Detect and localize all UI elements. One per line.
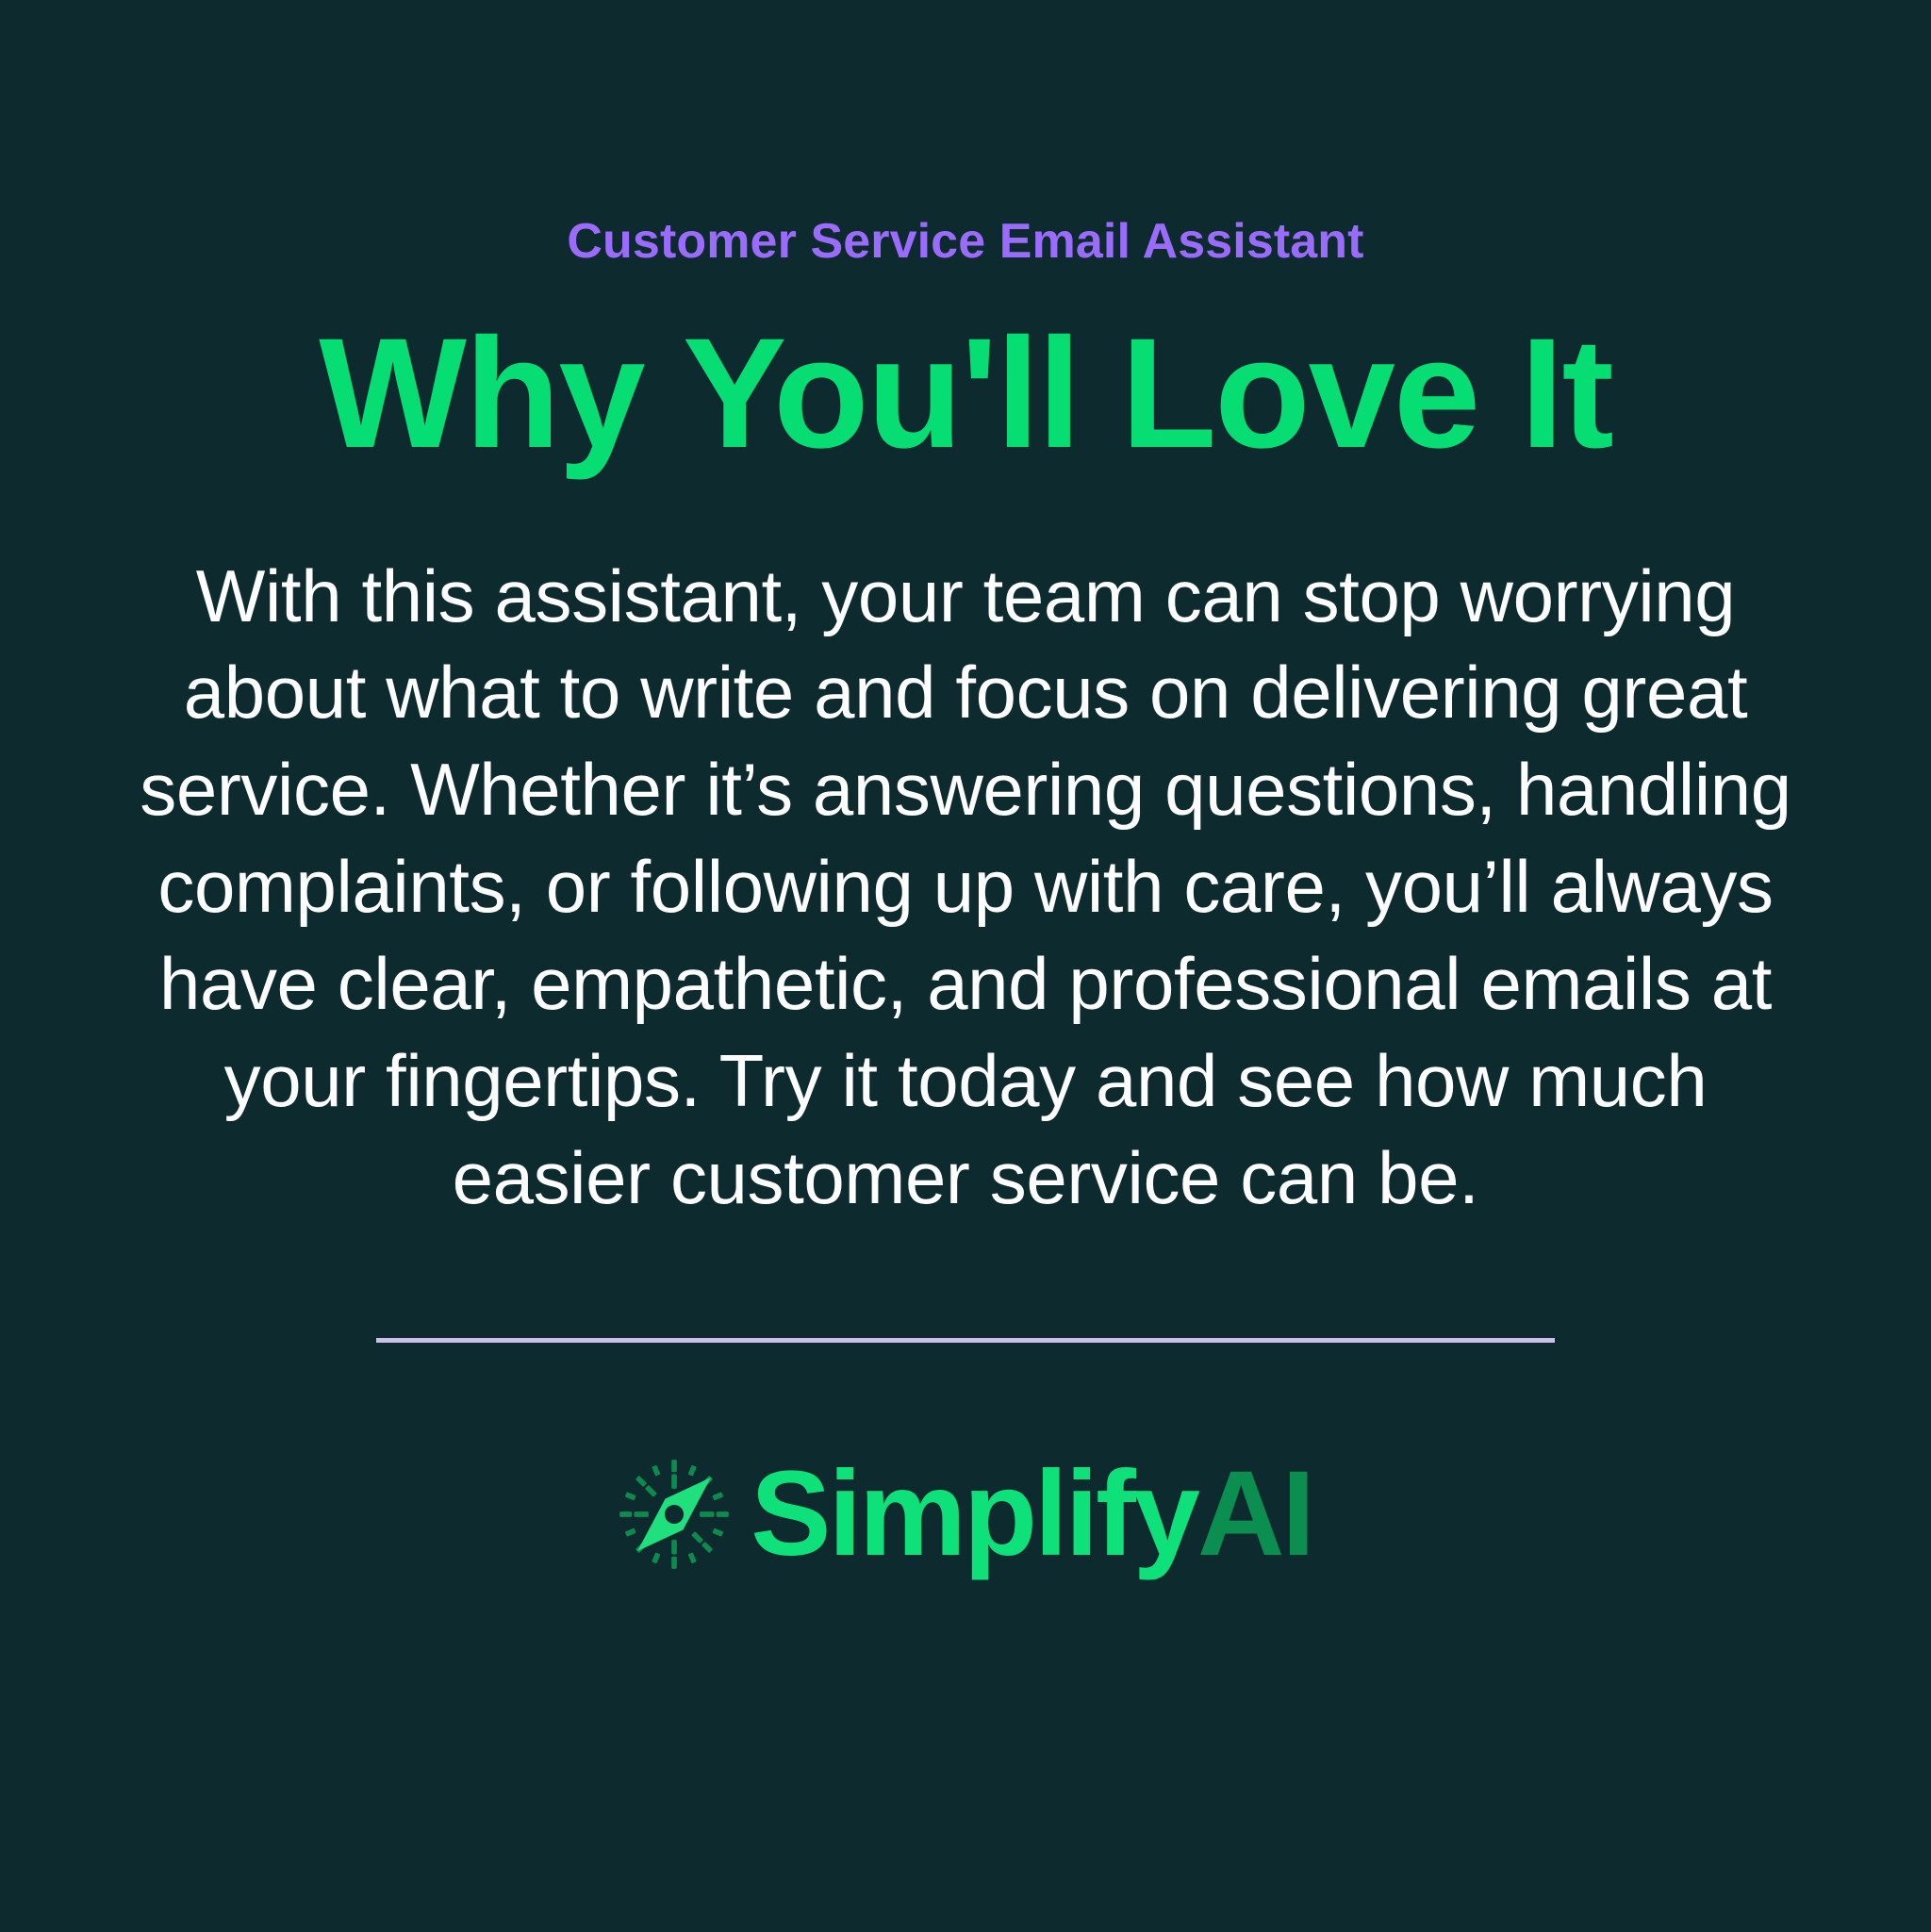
body-paragraph: With this assistant, your team can stop … <box>131 548 1800 1228</box>
eyebrow-label: Customer Service Email Assistant <box>567 215 1363 269</box>
section-divider <box>376 1338 1555 1343</box>
compass-burst-icon <box>619 1459 730 1570</box>
brand-wordmark: SimplifyAI <box>751 1454 1312 1575</box>
slide-root: Customer Service Email Assistant Why You… <box>0 0 1931 1932</box>
brand-lockup: SimplifyAI <box>619 1454 1312 1575</box>
brand-name-secondary: AI <box>1197 1454 1312 1575</box>
brand-name-primary: Simplify <box>751 1454 1197 1575</box>
page-title: Why You'll Love It <box>319 314 1612 473</box>
